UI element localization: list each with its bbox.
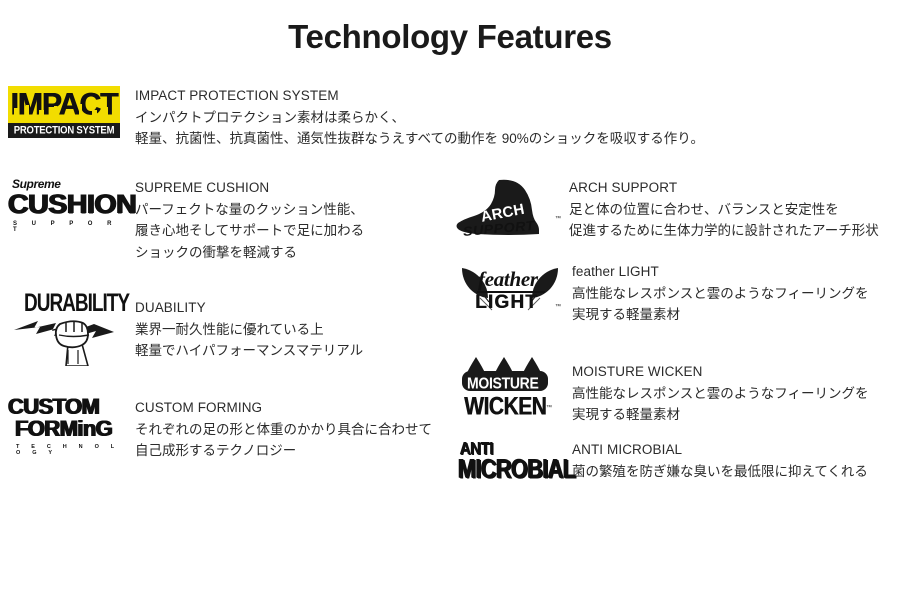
feature-feather-light: feather LIGHT ™ feather LIGHT 高性能なレスポンスと… [458,262,898,326]
impact-logo-word: IMPACT [11,87,118,123]
feather-light-desc-line-1: 高性能なレスポンスと雲のようなフィーリングを [572,283,898,305]
impact-protection-logo: IMPACT PROTECTION SYSTEM [8,86,120,138]
feather-light-text: feather LIGHT 高性能なレスポンスと雲のようなフィーリングを 実現す… [572,262,898,326]
feature-durability: DURABILITY DUABILITY 業界一耐久性能に優れている上 軽量でハ… [8,288,438,366]
anti-microbial-desc-line-1: 菌の繁殖を防ぎ嫌な臭いを最低限に抑えてくれる [572,461,898,483]
impact-desc-line-1: インパクトプロテクション素材は柔らかく、 [135,107,888,129]
moisture-wicken-logo: MOISTURE WICKEN ™ [458,355,562,415]
moisture-wicken-text: MOISTURE WICKEN 高性能なレスポンスと雲のようなフィーリングを 実… [572,355,898,426]
custom-forming-desc-line-1: それぞれの足の形と体重のかかり具合に合わせて [135,419,468,441]
feature-custom-forming: CUSTOM FORMinG T E C H N O L O G Y CUSTO… [8,396,468,462]
durability-logo: DURABILITY [8,288,120,366]
moisture-wicken-heading: MOISTURE WICKEN [572,362,898,382]
supreme-cushion-desc-line-2: 履き心地そしてサポートで足に加わる [135,220,438,242]
impact-heading: IMPACT PROTECTION SYSTEM [135,86,888,106]
supreme-cushion-desc-line-1: パーフェクトな量のクッション性能、 [135,199,438,221]
custom-forming-heading: CUSTOM FORMING [135,398,468,418]
impact-text: IMPACT PROTECTION SYSTEM インパクトプロテクション素材は… [135,86,888,150]
custom-forming-logo-line-2: FORMinG [15,418,120,440]
feather-logo-trademark: ™ [555,304,561,310]
impact-logo-top: IMPACT [8,86,120,123]
custom-forming-logo-line-1: CUSTOM [8,396,120,418]
wicken-logo-trademark: ™ [546,405,552,411]
page-title: Technology Features [0,18,900,56]
fist-lightning-icon [8,288,120,366]
moisture-logo-word: MOISTURE [467,374,539,392]
durability-text: DUABILITY 業界一耐久性能に優れている上 軽量でハイパフォーマンスマテリ… [135,288,438,362]
moisture-wicken-desc-line-1: 高性能なレスポンスと雲のようなフィーリングを [572,383,898,405]
feather-logo-script: feather [478,267,538,292]
custom-forming-text: CUSTOM FORMING それぞれの足の形と体重のかかり具合に合わせて 自己… [135,396,468,462]
durability-heading: DUABILITY [135,298,438,318]
arch-support-text: ARCH SUPPORT 足と体の位置に合わせ、バランスと安定性を 促進するため… [569,178,895,242]
cushion-logo-word: CUSHION [8,191,127,218]
impact-logo-bottom: PROTECTION SYSTEM [8,123,120,138]
feature-impact-protection-system: IMPACT PROTECTION SYSTEM IMPACT PROTECTI… [8,86,888,150]
feather-logo-word: LIGHT [475,292,538,314]
arch-logo-trademark: ™ [555,216,561,222]
anti-microbial-text: ANTI MICROBIAL 菌の繁殖を防ぎ嫌な臭いを最低限に抑えてくれる [572,437,898,482]
feature-supreme-cushion: Supreme CUSHION S U P P O R T SUPREME CU… [8,178,438,264]
moisture-wicken-desc-line-2: 実現する軽量素材 [572,404,898,426]
anti-microbial-logo: ANTI MICROBIAL [458,437,562,483]
feature-arch-support: ARCH SUPPORT ™ ARCH SUPPORT 足と体の位置に合わせ、バ… [455,178,895,242]
arch-support-heading: ARCH SUPPORT [569,178,895,198]
anti-microbial-logo-line-2: MICROBIAL [458,454,575,485]
feather-light-logo: feather LIGHT ™ [458,262,562,314]
custom-forming-desc-line-2: 自己成形するテクノロジー [135,440,468,462]
arch-support-desc-line-1: 足と体の位置に合わせ、バランスと安定性を [569,199,895,221]
arch-support-desc-line-2: 促進するために生体力学的に設計されたアーチ形状 [569,220,895,242]
anti-microbial-heading: ANTI MICROBIAL [572,440,898,460]
feather-light-desc-line-2: 実現する軽量素材 [572,304,898,326]
supreme-cushion-logo: Supreme CUSHION S U P P O R T [8,178,120,228]
durability-desc-line-2: 軽量でハイパフォーマンスマテリアル [135,340,438,362]
wicken-logo-word: WICKEN [464,393,546,422]
durability-desc-line-1: 業界一耐久性能に優れている上 [135,319,438,341]
arch-support-logo: ARCH SUPPORT ™ [455,178,563,240]
impact-desc-line-2: 軽量、抗菌性、抗真菌性、通気性抜群なうえすべての動作を 90%のショックを吸収す… [135,128,888,150]
impact-logo-subtitle: PROTECTION SYSTEM [14,124,115,137]
supreme-cushion-heading: SUPREME CUSHION [135,178,438,198]
supreme-cushion-desc-line-3: ショックの衝撃を軽減する [135,242,438,264]
custom-forming-logo: CUSTOM FORMinG T E C H N O L O G Y [8,396,120,444]
cushion-logo-subtitle: S U P P O R T [13,221,120,233]
feature-anti-microbial: ANTI MICROBIAL ANTI MICROBIAL 菌の繁殖を防ぎ嫌な臭… [458,437,898,483]
feather-light-heading: feather LIGHT [572,262,898,282]
supreme-cushion-text: SUPREME CUSHION パーフェクトな量のクッション性能、 履き心地そし… [135,178,438,264]
custom-forming-logo-subtitle: T E C H N O L O G Y [16,444,120,456]
feature-moisture-wicken: MOISTURE WICKEN ™ MOISTURE WICKEN 高性能なレス… [458,355,898,426]
